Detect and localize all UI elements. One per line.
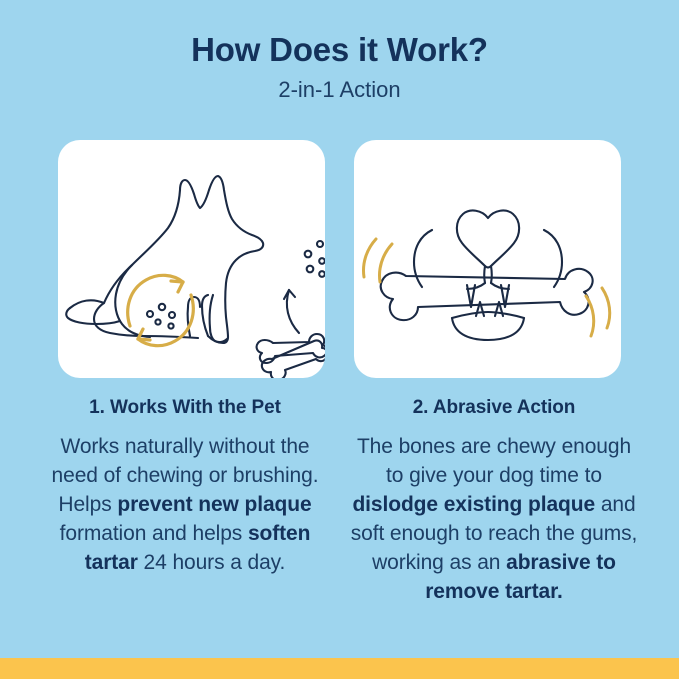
infographic-poster: How Does it Work? 2-in-1 Action [0, 0, 679, 679]
page-title: How Does it Work? [0, 30, 679, 70]
text-columns-row: 1. Works With the Pet Works naturally wi… [40, 396, 639, 606]
column-heading-2: 2. Abrasive Action [349, 396, 639, 420]
column-body-2: The bones are chewy enough to give your … [349, 432, 639, 606]
sitting-dog-with-bones-illustration [58, 140, 325, 378]
column-heading-1: 1. Works With the Pet [40, 396, 330, 420]
column-body-1: Works naturally without the need of chew… [40, 432, 330, 577]
bottom-accent-bar [0, 658, 679, 679]
motion-lines-right-icon [586, 288, 610, 336]
card-abrasive-action [354, 140, 621, 378]
header: How Does it Work? 2-in-1 Action [0, 30, 679, 104]
column-works-with-the-pet: 1. Works With the Pet Works naturally wi… [40, 396, 330, 606]
illustration-cards-row [58, 140, 621, 378]
dog-muzzle-chewing-bone-illustration [354, 140, 621, 378]
column-abrasive-action: 2. Abrasive Action The bones are chewy e… [349, 396, 639, 606]
page-subtitle: 2-in-1 Action [0, 76, 679, 104]
card-works-with-the-pet [58, 140, 325, 378]
